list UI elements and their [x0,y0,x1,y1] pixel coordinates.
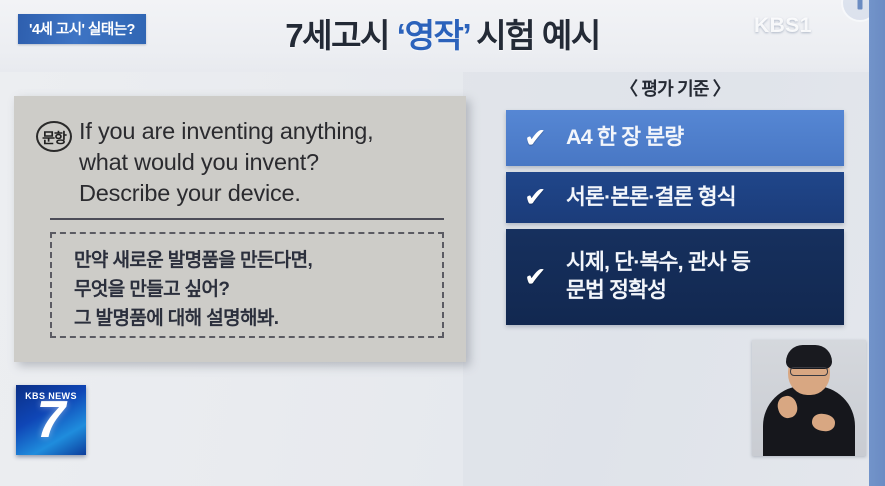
criteria-item-1-label: A4 한 장 분량 [566,124,683,152]
question-prompt-row: 문항If you are inventing anything, what wo… [36,116,452,209]
program-logo: KBS NEWS 7 [16,385,86,455]
signer-hair [786,345,832,369]
header-bar: '4세 고시' 실태는? 7세고시 ‘영작’ 시험 예시 KBS1 [0,0,885,72]
page-title-highlight: ‘영작’ [397,17,470,54]
question-english-text: If you are inventing anything, what woul… [79,116,373,209]
right-edge-accent-bar [869,0,885,486]
glasses-icon [790,367,828,376]
program-logo-number: 7 [16,393,86,448]
channel-logo: KBS1 [754,14,812,38]
criteria-item-3: ✔ 시제, 단·복수, 관사 등 문법 정확성 [506,229,844,325]
question-translation-box: 만약 새로운 발명품을 만든다면, 무엇을 만들고 싶어? 그 발명품에 대해 … [50,232,444,338]
criteria-item-2-label: 서론·본론·결론 형식 [566,184,736,212]
sign-language-inset [752,340,866,456]
signer-body [763,386,855,456]
question-divider [50,218,444,220]
criteria-item-2: ✔ 서론·본론·결론 형식 [506,172,844,223]
criteria-heading: 〈 평가 기준 〉 [506,75,844,101]
check-icon: ✔ [524,125,556,152]
check-icon: ✔ [524,184,556,211]
criteria-item-1: ✔ A4 한 장 분량 [506,110,844,166]
page-title-suffix: 시험 예시 [469,17,599,54]
check-icon: ✔ [524,264,556,291]
criteria-item-3-label: 시제, 단·복수, 관사 등 문법 정확성 [566,249,750,304]
question-badge: 문항 [36,121,72,152]
page-title: 7세고시 ‘영작’ 시험 예시 [0,9,885,57]
broadcast-screen: '4세 고시' 실태는? 7세고시 ‘영작’ 시험 예시 KBS1 문항If y… [0,0,885,486]
question-korean-text: 만약 새로운 발명품을 만든다면, 무엇을 만들고 싶어? 그 발명품에 대해 … [74,246,312,333]
page-title-prefix: 7세고시 [285,17,397,54]
question-card: 문항If you are inventing anything, what wo… [14,96,466,362]
